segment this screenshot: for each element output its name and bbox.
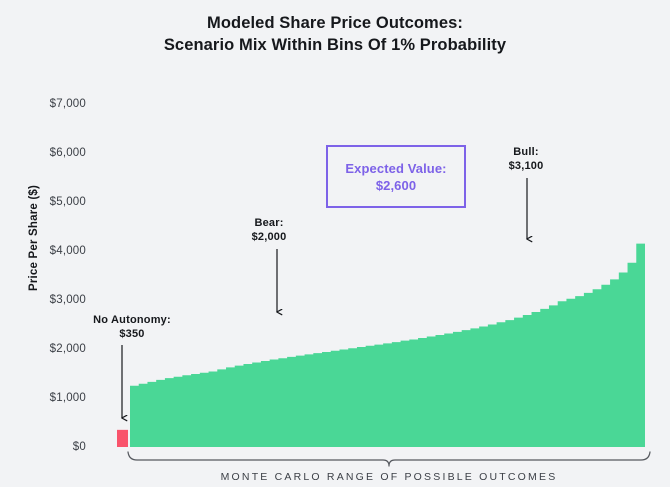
annotation-no-autonomy: No Autonomy: $350	[72, 313, 192, 341]
plot-area	[96, 90, 656, 450]
plot-svg	[96, 90, 656, 450]
x-range-brace	[128, 452, 650, 466]
y-tick-2000: $2,000	[16, 343, 86, 355]
monte-carlo-area	[130, 187, 645, 447]
y-axis-ticks: $7,000 $6,000 $5,000 $4,000 $3,000 $2,00…	[12, 0, 86, 487]
no-autonomy-value: $350	[72, 327, 192, 341]
bear-label: Bear:	[223, 216, 315, 230]
bull-label: Bull:	[478, 145, 574, 159]
chart-title: Modeled Share Price Outcomes: Scenario M…	[0, 12, 670, 56]
y-tick-7000: $7,000	[16, 98, 86, 110]
chart-title-line-1: Modeled Share Price Outcomes:	[0, 12, 670, 34]
y-tick-1000: $1,000	[16, 392, 86, 404]
expected-value-label: Expected Value:	[345, 160, 446, 177]
chart-title-line-2: Scenario Mix Within Bins Of 1% Probabili…	[0, 34, 670, 56]
expected-value-amount: $2,600	[376, 177, 416, 194]
expected-value-box: Expected Value: $2,600	[326, 145, 466, 208]
y-tick-4000: $4,000	[16, 245, 86, 257]
no-autonomy-label: No Autonomy:	[72, 313, 192, 327]
y-tick-5000: $5,000	[16, 196, 86, 208]
bear-value: $2,000	[223, 230, 315, 244]
chart-container: Modeled Share Price Outcomes: Scenario M…	[0, 0, 670, 487]
annotation-bull: Bull: $3,100	[478, 145, 574, 173]
y-tick-3000: $3,000	[16, 294, 86, 306]
x-axis-caption: MONTE CARLO RANGE OF POSSIBLE OUTCOMES	[128, 471, 650, 483]
y-tick-0: $0	[16, 441, 86, 453]
bull-value: $3,100	[478, 159, 574, 173]
no-autonomy-bar	[117, 430, 128, 447]
annotation-bear: Bear: $2,000	[223, 216, 315, 244]
y-tick-6000: $6,000	[16, 147, 86, 159]
